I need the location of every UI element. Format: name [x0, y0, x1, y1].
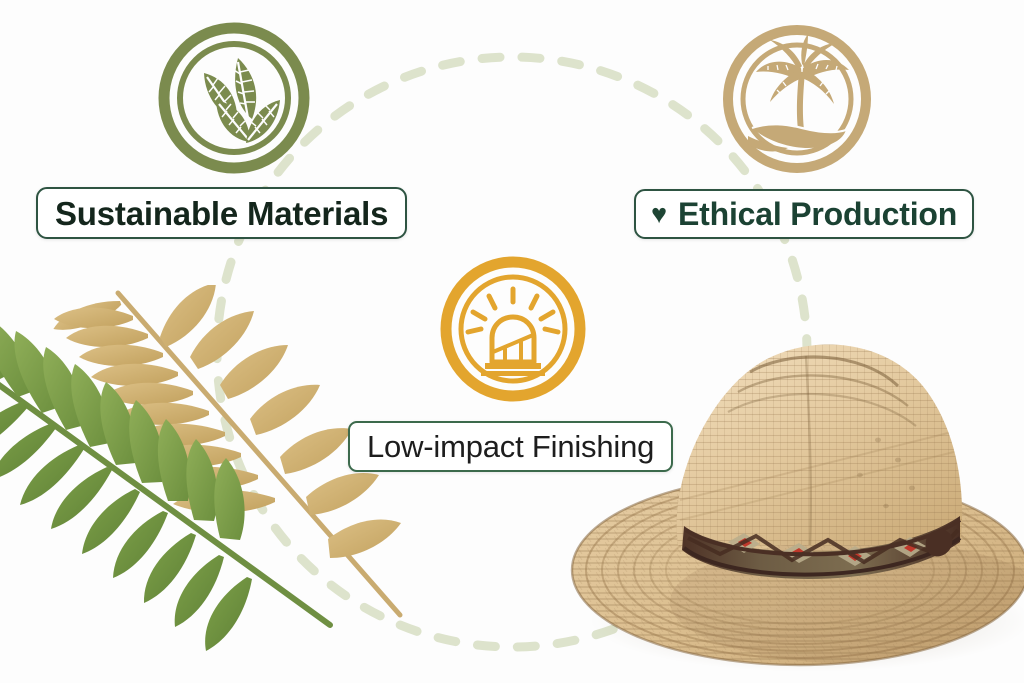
beacon-sun-badge-icon — [440, 256, 586, 402]
palm-tree-badge-icon — [722, 24, 872, 174]
label-sustainable-materials[interactable]: Sustainable Materials — [36, 187, 407, 239]
label-ethical-production-text: Ethical Production — [678, 198, 957, 230]
label-low-impact-finishing-text: Low-impact Finishing — [367, 431, 654, 462]
straw-hat-image — [560, 320, 1024, 683]
heart-icon: ♥ — [651, 201, 667, 228]
label-sustainable-materials-text: Sustainable Materials — [55, 197, 388, 230]
palm-fronds-image — [0, 285, 440, 683]
label-ethical-production[interactable]: ♥ Ethical Production — [634, 189, 974, 239]
leaves-badge-icon — [158, 22, 310, 174]
label-low-impact-finishing[interactable]: Low-impact Finishing — [348, 421, 673, 472]
infographic-canvas: Sustainable Materials ♥ Ethical Producti… — [0, 0, 1024, 683]
